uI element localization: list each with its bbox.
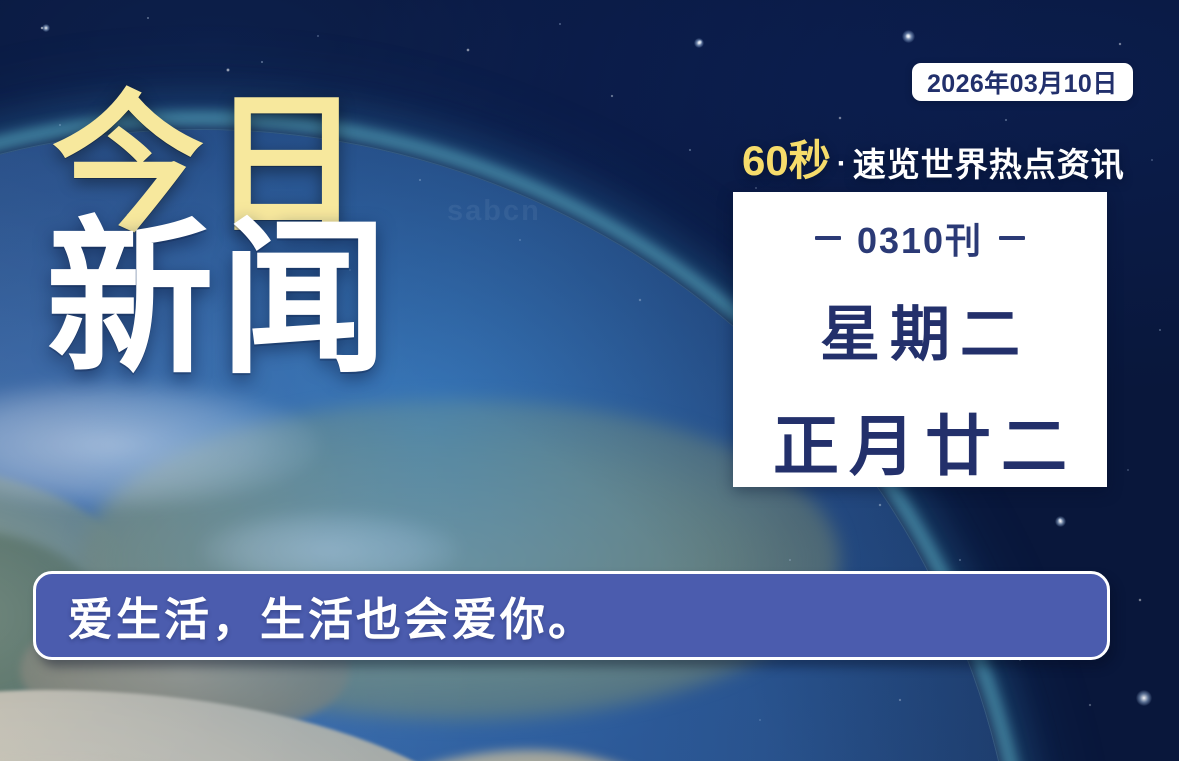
dash-right-icon	[999, 236, 1025, 240]
dash-left-icon	[815, 236, 841, 240]
slogan-separator-dot: ·	[837, 149, 847, 182]
news-poster: sabcn 今日 新闻 2026年03月10日 60秒 · 速览世界热点资讯 0…	[0, 0, 1179, 761]
issue-number-label: 0310刊	[857, 212, 983, 264]
issue-number-row: 0310刊	[815, 212, 1025, 264]
bright-star-1	[902, 30, 915, 43]
bright-star-5	[42, 24, 50, 32]
bright-star-3	[1055, 516, 1066, 527]
slogan-seconds: 60秒	[742, 140, 831, 182]
issue-card: 0310刊 星期二 正月廿二	[733, 192, 1107, 487]
bright-star-2	[694, 38, 704, 48]
banner-text: 爱生活，生活也会爱你。	[68, 583, 596, 648]
slogan-banner: 爱生活，生活也会爱你。	[33, 571, 1110, 660]
slogan-row: 60秒 · 速览世界热点资讯	[742, 140, 1125, 182]
slogan-tail: 速览世界热点资讯	[853, 148, 1125, 182]
weekday-label: 星期二	[820, 286, 1030, 373]
date-badge: 2026年03月10日	[912, 63, 1133, 101]
lunar-date-label: 正月廿二	[773, 393, 1077, 489]
bright-star-4	[1136, 690, 1152, 706]
title-line-news: 新闻	[46, 222, 472, 377]
poster-title: 今日 新闻	[52, 96, 472, 376]
date-badge-label: 2026年03月10日	[927, 64, 1118, 100]
